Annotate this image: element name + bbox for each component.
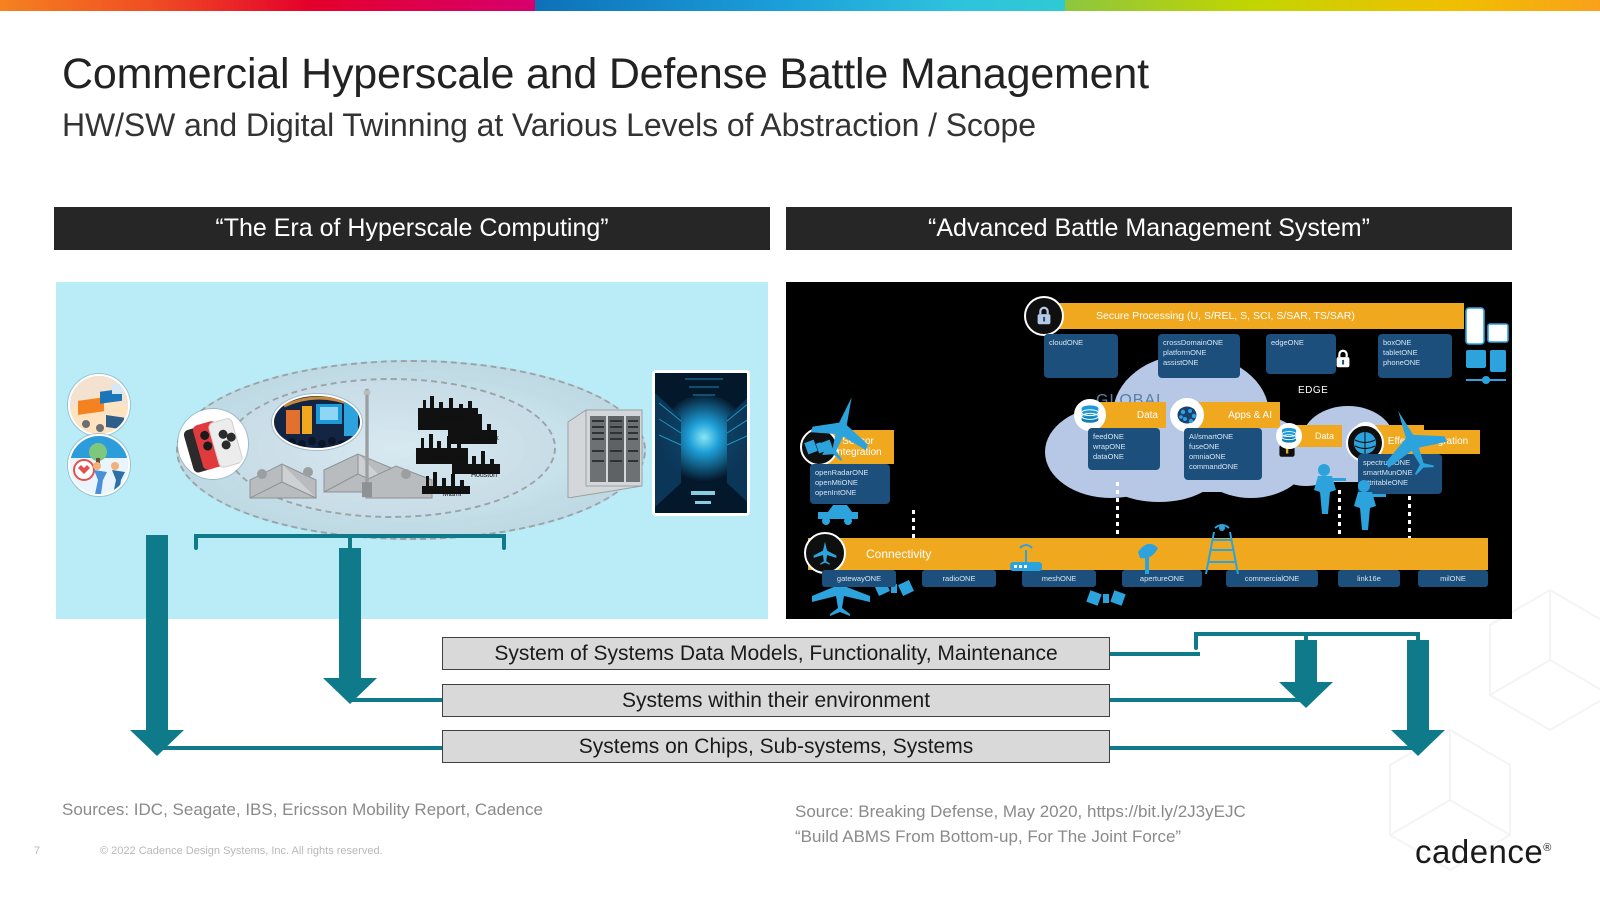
- conn-chip-milone: milONE: [1418, 570, 1488, 587]
- factory-automation-icon: [68, 374, 130, 436]
- ground-vehicle-icon: [816, 496, 860, 526]
- commandone-item: commandONE: [1189, 462, 1257, 472]
- level-box-systems-environment: Systems within their environment: [442, 684, 1110, 717]
- dotted-connector: [912, 510, 915, 538]
- database-icon: [1074, 399, 1106, 431]
- openmtione-item: openMtiONE: [815, 478, 885, 488]
- boxone-item: boxONE: [1383, 338, 1447, 348]
- cadence-logo: cadence®: [1415, 833, 1552, 871]
- aircraft-icon: [804, 532, 846, 574]
- source-note-right-line1: Source: Breaking Defense, May 2020, http…: [795, 800, 1246, 825]
- source-note-left: Sources: IDC, Seagate, IBS, Ericsson Mob…: [62, 800, 543, 820]
- cell-tower-icon: [1202, 522, 1242, 576]
- dotted-connector: [1116, 482, 1119, 538]
- city-label: Miami: [443, 491, 462, 498]
- city-label: Los Angeles: [429, 455, 468, 462]
- page-number: 7: [34, 845, 40, 857]
- crossdomainone-item: crossDomainONE: [1163, 338, 1235, 348]
- page-subtitle: HW/SW and Digital Twinning at Various Le…: [62, 107, 1036, 144]
- page-title: Commercial Hyperscale and Defense Battle…: [62, 50, 1149, 99]
- mobile-devices-icon: [1462, 306, 1510, 396]
- registered-mark-icon: ®: [1543, 842, 1552, 854]
- caption-bar-hyperscale: “The Era of Hyperscale Computing”: [54, 207, 770, 250]
- device-box: boxONE tabletONE phoneONE: [1378, 334, 1452, 378]
- caption-bar-abms: “Advanced Battle Management System”: [786, 207, 1512, 250]
- satellite-dish-icon: [1134, 536, 1162, 576]
- soldier-silhouette-icon: [1348, 478, 1388, 534]
- cell-tower-icon: [362, 378, 372, 508]
- wearable-fitness-icon: [68, 434, 130, 496]
- edgeone-box: edgeONE: [1266, 334, 1336, 374]
- brand-accent-bar: [0, 0, 1600, 11]
- accent-segment-warm: [0, 0, 535, 11]
- copyright-notice: © 2022 Cadence Design Systems, Inc. All …: [100, 845, 383, 857]
- city-skyline-group: Boston New York Los Angeles Houston Miam…: [408, 394, 538, 498]
- accent-segment-green: [1065, 0, 1600, 11]
- city-label: New York: [469, 435, 499, 442]
- feedone-item: feedONE: [1093, 432, 1155, 442]
- wifi-router-icon: [1008, 544, 1044, 574]
- apps-ai-tile-items: AI/smartONE fuseONE omniaONE commandONE: [1184, 428, 1262, 480]
- assistone-item: assistONE: [1163, 358, 1235, 368]
- conn-chip-radioone: radioONE: [922, 570, 996, 587]
- hyperscale-illustration-panel: Boston New York Los Angeles Houston Miam…: [56, 282, 768, 619]
- accent-segment-blue: [535, 0, 1065, 11]
- omniaone-item: omniaONE: [1189, 452, 1257, 462]
- data-center-aisle-photo: [652, 370, 750, 516]
- padlock-icon: [1024, 296, 1064, 336]
- cadence-logo-text: cadence: [1415, 833, 1543, 870]
- secure-processing-bar: Secure Processing (U, S/REL, S, SCI, S/S…: [1044, 303, 1464, 329]
- tabletone-item: tabletONE: [1383, 348, 1447, 358]
- cloudone-box: cloudONE: [1044, 334, 1118, 378]
- edge-padlock-icon: [1332, 346, 1354, 376]
- aircraft-silhouette-icon: [1372, 402, 1452, 482]
- crossdomain-box: crossDomainONE platformONE assistONE: [1158, 334, 1240, 378]
- fuseone-item: fuseONE: [1189, 442, 1257, 452]
- abms-diagram-panel: GLOBAL EDGE Secure Processing (U, S/REL,…: [786, 282, 1512, 619]
- level-box-systems-on-chips: Systems on Chips, Sub-systems, Systems: [442, 730, 1110, 763]
- aismartone-item: AI/smartONE: [1189, 432, 1257, 442]
- level-box-system-of-systems: System of Systems Data Models, Functiona…: [442, 637, 1110, 670]
- conn-chip-link16e: link16e: [1338, 570, 1400, 587]
- aircraft-silhouette-icon: [808, 392, 878, 462]
- data-tile-items: feedONE wrapONE dataONE: [1088, 428, 1160, 470]
- soldier-silhouette-icon: [1308, 462, 1348, 518]
- city-label: Boston: [439, 414, 461, 421]
- source-note-right-line2: “Build ABMS From Bottom-up, For The Join…: [795, 825, 1246, 850]
- source-note-right: Source: Breaking Defense, May 2020, http…: [795, 800, 1246, 849]
- platformone-item: platformONE: [1163, 348, 1235, 358]
- edge-cloud-label: EDGE: [1298, 385, 1328, 396]
- dataone-item: dataONE: [1093, 452, 1155, 462]
- dotted-connector: [1408, 496, 1411, 538]
- edgeone-item: edgeONE: [1271, 338, 1331, 348]
- wrapone-item: wrapONE: [1093, 442, 1155, 452]
- smartphones-icon: [178, 409, 248, 479]
- city-label: Houston: [471, 472, 497, 479]
- server-rack-icon: [564, 404, 646, 498]
- openradarone-item: openRadarONE: [815, 468, 885, 478]
- conn-chip-gatewayone: gatewayONE: [822, 570, 896, 587]
- cloudone-item: cloudONE: [1049, 338, 1113, 348]
- edge-database-icon: [1276, 423, 1302, 449]
- phoneone-item: phoneONE: [1383, 358, 1447, 368]
- dotted-connector: [1338, 490, 1341, 538]
- brain-icon: [1170, 398, 1204, 432]
